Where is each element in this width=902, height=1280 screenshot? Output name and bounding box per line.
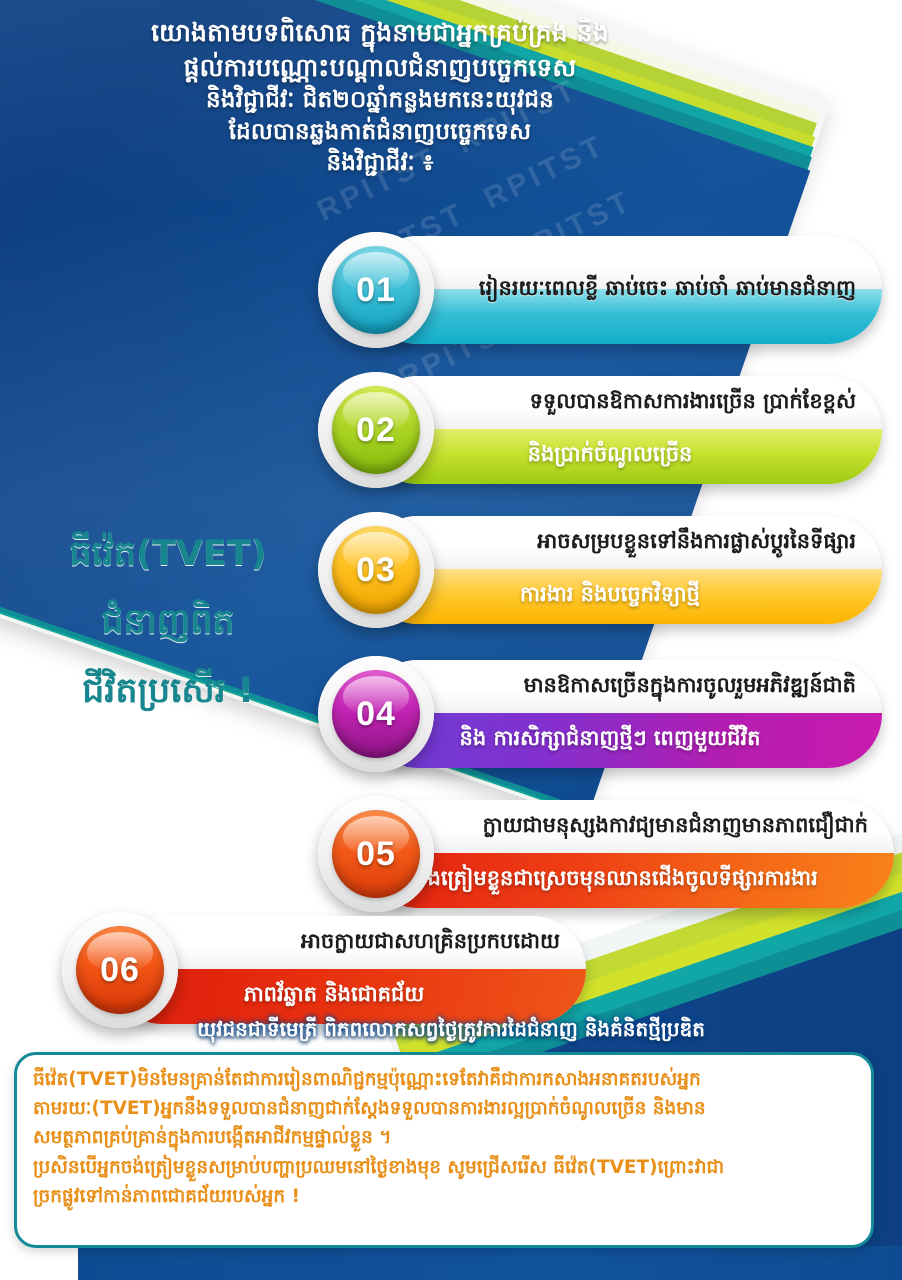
header-line-5: និងវិជ្ជាជីវៈ ៖ (0, 148, 760, 180)
badge-inner: 01 (332, 246, 420, 334)
header-block: យោងតាមបទពិសោធ ក្នុងនាមជាអ្នកគ្រប់គ្រង និ… (0, 16, 760, 180)
bottom-paragraph-3: សមត្ថភាពគ្រប់គ្រាន់ក្នុងការបង្កើតអាជីវកម… (33, 1123, 855, 1152)
benefit-text-05-line1: ក្លាយជាមនុស្សងកាវជ្យមានជំនាញមានភាពជឿជាក់ (364, 802, 868, 852)
benefit-item-02[interactable]: ទទួលបានឱកាសការងារច្រើន ប្រាក់ខែខ្ពស់ និង… (318, 376, 882, 484)
benefit-bar-01: រៀនរយៈពេលខ្លី ឆាប់ចេះ ឆាប់ចាំ ឆាប់មានជំន… (364, 236, 882, 344)
badge-inner: 02 (332, 386, 420, 474)
benefit-text-02-line1: ទទួលបានឱកាសការងារច្រើន ប្រាក់ខែខ្ពស់ (364, 378, 856, 428)
benefit-bar-03: អាចសម្របខ្លួនទៅនឹងការផ្លាស់ប្តូរនៃទីផ្សា… (364, 516, 882, 624)
benefit-badge-03[interactable]: 03 (318, 512, 434, 628)
caption-text: យុវជនជាទីមេត្រី ពិភពលោកសព្វថ្ងៃត្រូវការដ… (197, 1017, 705, 1041)
badge-inner: 03 (332, 526, 420, 614)
benefit-item-04[interactable]: មានឱកាសច្រើនក្នុងការចូលរួមអភិវឌ្ឍន៍ជាតិ … (318, 660, 882, 768)
bottom-paragraph-1: ធីវ៉េត(TVET)មិនមែនគ្រាន់តែជាការរៀនពាណិជ្… (33, 1065, 855, 1094)
bottom-navy-band (0, 1246, 902, 1280)
badge-number-03: 03 (356, 551, 396, 590)
badge-number-05: 05 (356, 835, 396, 874)
slogan-line-3: ជីវិតប្រសើរ ! (18, 657, 318, 725)
benefit-badge-02[interactable]: 02 (318, 372, 434, 488)
benefit-text-04-line2: និង ការសិក្សាជំនាញថ្មីៗ ពេញមួយជីវិត (364, 715, 856, 765)
benefit-item-03[interactable]: អាចសម្របខ្លួនទៅនឹងការផ្លាស់ប្តូរនៃទីផ្សា… (318, 516, 882, 624)
benefit-bar-05: ក្លាយជាមនុស្សងកាវជ្យមានជំនាញមានភាពជឿជាក់… (364, 800, 894, 908)
slogan-line-2: ជំនាញពិត (18, 588, 318, 656)
header-line-3: និងវិជ្ជាជីវៈ ជិត២០ឆ្នាំកន្លងមកនេះយុវជន (0, 85, 760, 117)
benefit-item-01[interactable]: រៀនរយៈពេលខ្លី ឆាប់ចេះ ឆាប់ចាំ ឆាប់មានជំន… (318, 236, 882, 344)
benefit-bar-04: មានឱកាសច្រើនក្នុងការចូលរួមអភិវឌ្ឍន៍ជាតិ … (364, 660, 882, 768)
bottom-paragraph-5: ច្រកផ្លូវទៅកាន់ភាពជោគជ័យរបស់អ្នក ! (33, 1182, 855, 1211)
benefit-badge-05[interactable]: 05 (318, 796, 434, 912)
benefit-item-06[interactable]: អាចក្លាយជាសហគ្រិនប្រកបដោយ ភាពវ័ឆ្លាត និង… (62, 916, 586, 1024)
header-line-4: ដែលបានឆ្លងកាត់ជំនាញបច្ចេកទេស (0, 117, 760, 149)
benefit-text-02-line2: និងប្រាក់ចំណូលច្រើន (364, 431, 856, 481)
benefit-bar-02: ទទួលបានឱកាសការងារច្រើន ប្រាក់ខែខ្ពស់ និង… (364, 376, 882, 484)
poster-root: RPITST RPITST RPITST RPITST RPITST RPITS… (0, 0, 902, 1280)
benefit-text-05-line2: និងត្រៀមខ្លួនជាស្រេចមុនឈានជើងចូលទីផ្សារក… (364, 855, 868, 905)
badge-inner: 04 (332, 670, 420, 758)
bottom-text-box: ធីវ៉េត(TVET)មិនមែនគ្រាន់តែជាការរៀនពាណិជ្… (14, 1052, 874, 1248)
benefit-badge-01[interactable]: 01 (318, 232, 434, 348)
bottom-paragraph-4: ប្រសិនបើអ្នកចង់ត្រៀមខ្លួនសម្រាប់បញ្ហាប្រ… (33, 1153, 855, 1182)
tvet-slogan: ធីវ៉េត(TVET) ជំនាញពិត ជីវិតប្រសើរ ! (18, 520, 318, 725)
badge-number-04: 04 (356, 695, 396, 734)
benefit-text-01-line1: រៀនរយៈពេលខ្លី ឆាប់ចេះ ឆាប់ចាំ ឆាប់មានជំន… (364, 236, 856, 344)
badge-inner: 06 (76, 926, 164, 1014)
slogan-line-1: ធីវ៉េត(TVET) (18, 520, 318, 588)
benefit-badge-06[interactable]: 06 (62, 912, 178, 1028)
benefit-text-04-line1: មានឱកាសច្រើនក្នុងការចូលរួមអភិវឌ្ឍន៍ជាតិ (364, 662, 856, 712)
bottom-paragraph-2: តាមរយៈ(TVET)អ្នកនឹងទទួលបានជំនាញជាក់ស្តែង… (33, 1094, 855, 1123)
benefit-bar-06: អាចក្លាយជាសហគ្រិនប្រកបដោយ ភាពវ័ឆ្លាត និង… (108, 916, 586, 1024)
badge-number-02: 02 (356, 411, 396, 450)
benefit-text-03-line1: អាចសម្របខ្លួនទៅនឹងការផ្លាស់ប្តូរនៃទីផ្សា… (364, 518, 856, 568)
benefit-item-05[interactable]: ក្លាយជាមនុស្សងកាវជ្យមានជំនាញមានភាពជឿជាក់… (318, 800, 894, 908)
header-line-1: យោងតាមបទពិសោធ ក្នុងនាមជាអ្នកគ្រប់គ្រង និ… (0, 16, 760, 51)
benefit-badge-04[interactable]: 04 (318, 656, 434, 772)
caption-block: យុវជនជាទីមេត្រី ពិភពលោកសព្វថ្ងៃត្រូវការដ… (0, 1016, 902, 1046)
header-line-2: ផ្តល់ការបណ្ណោះបណ្តាលជំនាញបច្ចេកទេស (0, 51, 760, 86)
badge-number-01: 01 (356, 271, 396, 310)
badge-inner: 05 (332, 810, 420, 898)
benefit-text-03-line2: ការងារ និងបច្ចេកវិទ្យាថ្មី (364, 571, 856, 621)
badge-number-06: 06 (100, 951, 140, 990)
